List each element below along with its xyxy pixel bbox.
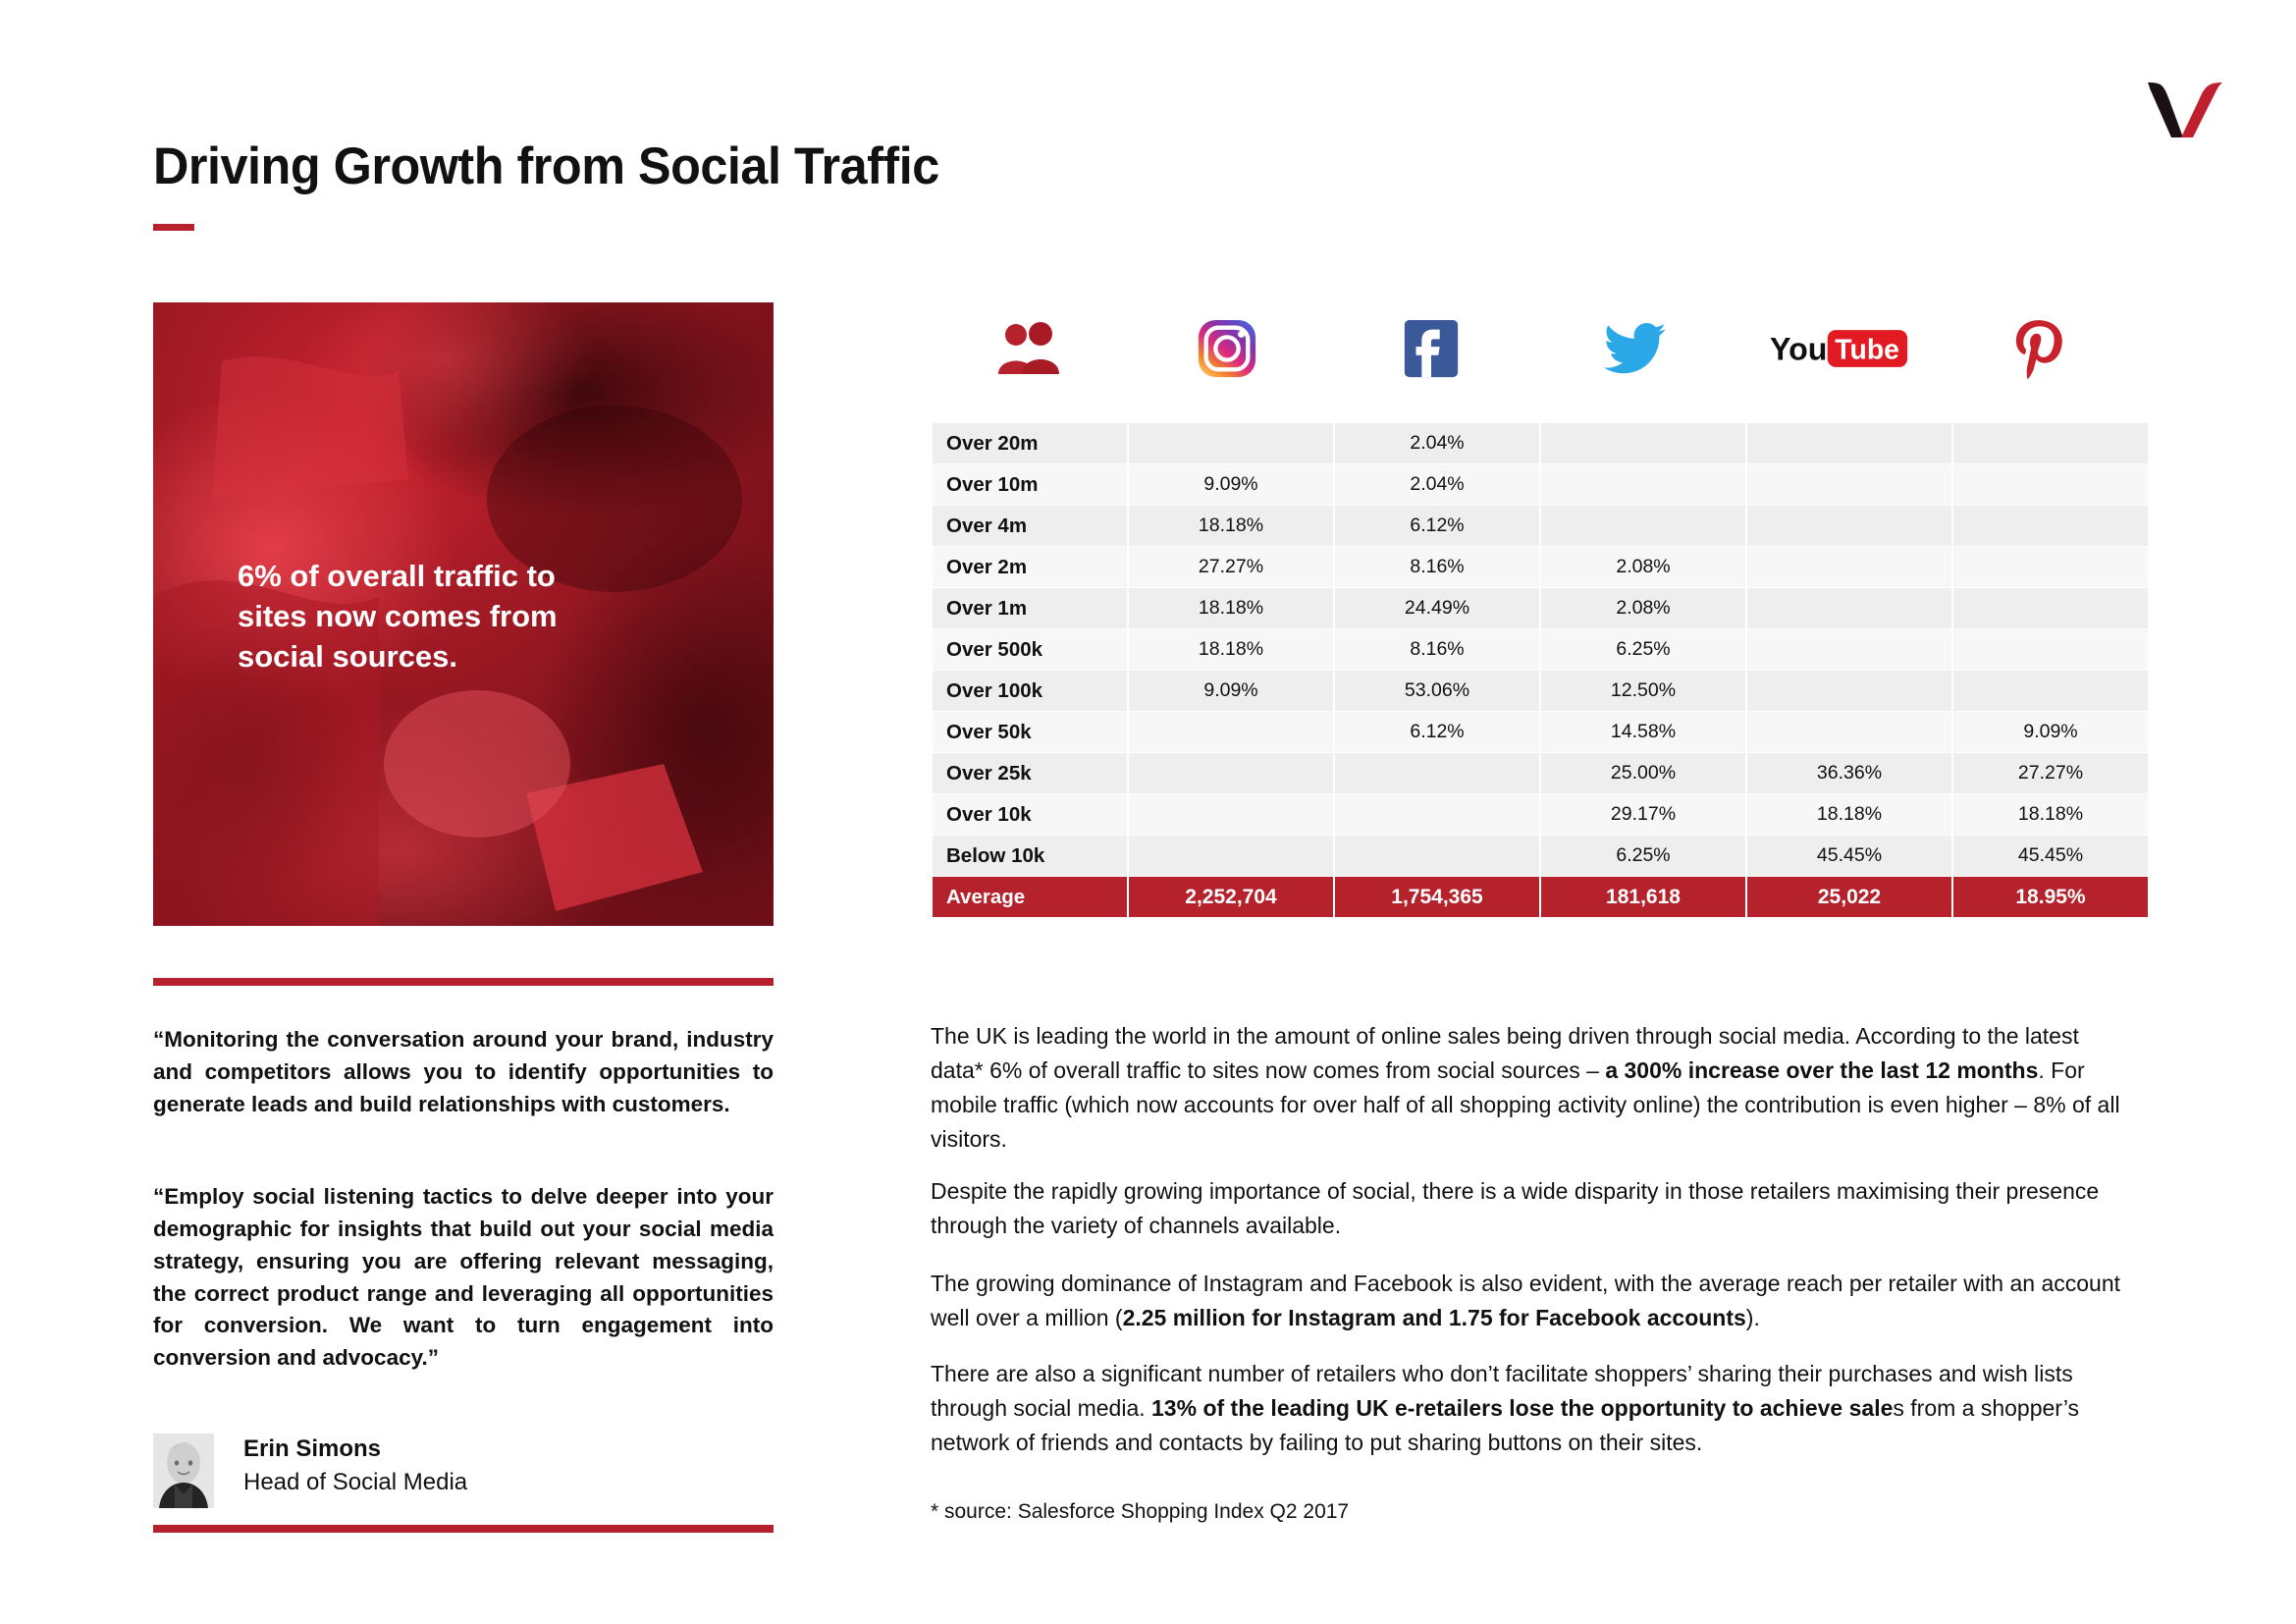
quote-paragraph-1: “Monitoring the conversation around your… [153, 1024, 774, 1121]
cell-twitter [1541, 464, 1745, 505]
cell-pinterest [1953, 588, 2148, 628]
row-label: Over 10m [933, 464, 1127, 505]
cell-youtube [1747, 588, 1951, 628]
cell-facebook: 53.06% [1335, 671, 1539, 711]
row-label: Over 50k [933, 712, 1127, 752]
photo-caption-line-2: sites now comes from [238, 596, 697, 636]
cell-twitter: 6.25% [1541, 836, 1745, 876]
cell-facebook: 2.04% [1335, 464, 1539, 505]
cell-facebook: 6.12% [1335, 712, 1539, 752]
cell-youtube: 18.18% [1747, 794, 1951, 835]
cell-instagram: 9.09% [1129, 464, 1333, 505]
body-paragraph-2: Despite the rapidly growing importance o… [931, 1174, 2136, 1243]
cell-facebook [1335, 794, 1539, 835]
table-row: Over 4m 18.18% 6.12% [933, 506, 2148, 546]
body-paragraph-4: There are also a significant number of r… [931, 1357, 2136, 1460]
row-label: Over 100k [933, 671, 1127, 711]
cell-instagram [1129, 712, 1333, 752]
quote-bottom-rule [153, 1525, 774, 1533]
cell-twitter [1541, 423, 1745, 463]
cell-instagram [1129, 753, 1333, 793]
photo-caption: 6% of overall traffic to sites now comes… [238, 556, 697, 677]
row-label: Over 25k [933, 753, 1127, 793]
table-row: Over 1m 18.18% 24.49% 2.08% [933, 588, 2148, 628]
cell-twitter: 6.25% [1541, 629, 1745, 670]
svg-text:You: You [1770, 331, 1827, 366]
cell-pinterest: 18.18% [1953, 794, 2148, 835]
cell-pinterest [1953, 464, 2148, 505]
average-youtube: 25,022 [1747, 877, 1951, 917]
cell-instagram [1129, 423, 1333, 463]
cell-youtube [1747, 629, 1951, 670]
author-name: Erin Simons [243, 1435, 381, 1463]
cell-facebook: 8.16% [1335, 629, 1539, 670]
instagram-icon [1125, 295, 1329, 403]
cell-youtube: 45.45% [1747, 836, 1951, 876]
p3-text-b: ). [1746, 1305, 1760, 1330]
author-block: Erin Simons Head of Social Media [153, 1434, 774, 1508]
photo-caption-line-1: 6% of overall traffic to [238, 556, 697, 596]
table-row: Over 500k 18.18% 8.16% 6.25% [933, 629, 2148, 670]
verdict-v-logo [2142, 79, 2228, 139]
cell-pinterest [1953, 629, 2148, 670]
cell-twitter: 14.58% [1541, 712, 1745, 752]
average-label: Average [933, 877, 1127, 917]
cell-facebook: 24.49% [1335, 588, 1539, 628]
social-reach-table: Over 20m 2.04% Over 10m 9.09% 2.04% O [931, 422, 2136, 918]
svg-text:Tube: Tube [1835, 334, 1899, 365]
cell-instagram: 27.27% [1129, 547, 1333, 587]
photo-caption-line-3: social sources. [238, 636, 697, 677]
table-row: Over 100k 9.09% 53.06% 12.50% [933, 671, 2148, 711]
cell-pinterest: 45.45% [1953, 836, 2148, 876]
facebook-icon [1329, 295, 1533, 403]
body-paragraph-3: The growing dominance of Instagram and F… [931, 1267, 2136, 1335]
cell-youtube [1747, 464, 1951, 505]
page-root: Driving Growth from Social Traffic [0, 0, 2296, 1624]
social-media-lifestyle-photo: 6% of overall traffic to sites now comes… [153, 302, 774, 926]
row-label: Below 10k [933, 836, 1127, 876]
table-row: Over 10k 29.17% 18.18% 18.18% [933, 794, 2148, 835]
cell-youtube [1747, 423, 1951, 463]
row-label: Over 1m [933, 588, 1127, 628]
average-pinterest: 18.95% [1953, 877, 2148, 917]
cell-facebook: 2.04% [1335, 423, 1539, 463]
cell-pinterest: 27.27% [1953, 753, 2148, 793]
average-facebook: 1,754,365 [1335, 877, 1539, 917]
cell-instagram: 18.18% [1129, 506, 1333, 546]
p1-emphasis: a 300% increase over the last 12 months [1605, 1057, 2038, 1083]
cell-twitter: 2.08% [1541, 588, 1745, 628]
quote-paragraph-2: “Employ social listening tactics to delv… [153, 1181, 774, 1375]
cell-twitter: 29.17% [1541, 794, 1745, 835]
average-twitter: 181,618 [1541, 877, 1745, 917]
cell-instagram: 18.18% [1129, 629, 1333, 670]
cell-pinterest [1953, 506, 2148, 546]
row-label: Over 4m [933, 506, 1127, 546]
average-instagram: 2,252,704 [1129, 877, 1333, 917]
pinterest-icon [1942, 295, 2136, 403]
p3-emphasis: 2.25 million for Instagram and 1.75 for … [1123, 1305, 1746, 1330]
cell-instagram: 9.09% [1129, 671, 1333, 711]
table-row: Below 10k 6.25% 45.45% 45.45% [933, 836, 2148, 876]
cell-youtube [1747, 671, 1951, 711]
table-average-row: Average 2,252,704 1,754,365 181,618 25,0… [933, 877, 2148, 917]
cell-youtube [1747, 712, 1951, 752]
cell-facebook [1335, 836, 1539, 876]
table-row: Over 2m 27.27% 8.16% 2.08% [933, 547, 2148, 587]
cell-twitter: 25.00% [1541, 753, 1745, 793]
row-label: Over 2m [933, 547, 1127, 587]
quote-top-rule [153, 978, 774, 986]
cell-pinterest [1953, 671, 2148, 711]
row-label: Over 20m [933, 423, 1127, 463]
cell-facebook [1335, 753, 1539, 793]
cell-youtube [1747, 506, 1951, 546]
table-row: Over 20m 2.04% [933, 423, 2148, 463]
row-label: Over 500k [933, 629, 1127, 670]
cell-pinterest: 9.09% [1953, 712, 2148, 752]
cell-instagram [1129, 794, 1333, 835]
table-row: Over 10m 9.09% 2.04% [933, 464, 2148, 505]
cell-instagram: 18.18% [1129, 588, 1333, 628]
audience-people-icon [931, 295, 1125, 403]
twitter-icon [1533, 295, 1737, 403]
cell-youtube: 36.36% [1747, 753, 1951, 793]
cell-twitter: 12.50% [1541, 671, 1745, 711]
source-note: * source: Salesforce Shopping Index Q2 2… [931, 1500, 1814, 1524]
cell-instagram [1129, 836, 1333, 876]
cell-twitter [1541, 506, 1745, 546]
cell-pinterest [1953, 547, 2148, 587]
youtube-icon: You Tube [1737, 295, 1942, 403]
row-label: Over 10k [933, 794, 1127, 835]
author-role: Head of Social Media [243, 1469, 467, 1496]
table-row: Over 50k 6.12% 14.58% 9.09% [933, 712, 2148, 752]
cell-facebook: 6.12% [1335, 506, 1539, 546]
cell-facebook: 8.16% [1335, 547, 1539, 587]
page-title: Driving Growth from Social Traffic [153, 139, 1459, 194]
body-paragraph-1: The UK is leading the world in the amoun… [931, 1019, 2136, 1157]
cell-youtube [1747, 547, 1951, 587]
table-row: Over 25k 25.00% 36.36% 27.27% [933, 753, 2148, 793]
cell-twitter: 2.08% [1541, 547, 1745, 587]
title-underline-rule [153, 224, 194, 231]
author-headshot [153, 1434, 214, 1508]
cell-pinterest [1953, 423, 2148, 463]
p4-emphasis: 13% of the leading UK e-retailers lose t… [1151, 1395, 1893, 1421]
table-icon-header: You Tube [931, 295, 2136, 403]
